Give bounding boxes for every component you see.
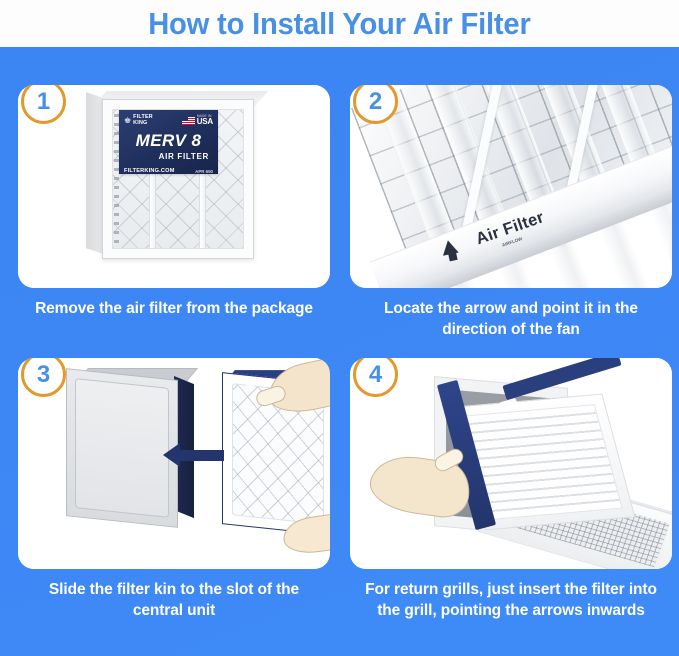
central-unit-panel — [75, 378, 169, 518]
step-4-card: 4 — [350, 358, 672, 569]
step-2: Air Filter AIRFLOW 2 Locate the arrow an… — [350, 85, 672, 340]
step-1-card: ♚ FILTER KING — [18, 85, 330, 288]
step-3: 3 Slide the filter kin to the slot of th… — [18, 358, 330, 621]
brand-name: FILTER KING — [133, 115, 153, 126]
usa-text: MADE IN USA — [197, 115, 213, 126]
step-4: 4 For return grills, just insert the fil… — [350, 358, 672, 621]
merv-rating: MERV 8 — [124, 131, 213, 151]
usa-text-big: USA — [197, 118, 213, 126]
step-2-card: Air Filter AIRFLOW 2 — [350, 85, 672, 288]
boxed-air-filter-photo: ♚ FILTER KING — [18, 85, 330, 288]
slide-filter-into-unit-illustration — [18, 358, 330, 569]
page-title: How to Install Your Air Filter — [148, 6, 530, 42]
filter-corner-arrow-closeup: Air Filter AIRFLOW — [350, 85, 672, 288]
step-3-caption: Slide the filter kin to the slot of the … — [18, 580, 330, 621]
central-unit-face — [66, 368, 178, 528]
label-bottom-row: FILTERKING.COM APR 650 — [124, 168, 213, 174]
product-label: ♚ FILTER KING — [119, 110, 218, 174]
header-bar: How to Install Your Air Filter — [0, 0, 679, 47]
label-top-row: ♚ FILTER KING — [124, 114, 213, 127]
step-2-caption: Locate the arrow and point it in the dir… — [350, 299, 672, 340]
label-subtitle: AIR FILTER — [124, 152, 213, 161]
brand-line-2: KING — [133, 120, 147, 126]
step-1-caption: Remove the air filter from the package — [18, 299, 330, 320]
usa-flag-icon — [182, 117, 195, 125]
filter-king-logo: ♚ FILTER KING — [124, 115, 153, 126]
direction-arrow-icon — [178, 450, 224, 461]
filter-front-face: ♚ FILTER KING — [102, 99, 254, 259]
steps-canvas: ♚ FILTER KING — [0, 47, 679, 656]
brand-website: FILTERKING.COM — [124, 168, 175, 174]
apr-rating: APR 650 — [195, 169, 213, 174]
step-4-caption: For return grills, just insert the filte… — [350, 580, 672, 621]
air-filter-product: ♚ FILTER KING — [86, 91, 264, 267]
filter-corner-body: Air Filter AIRFLOW — [350, 85, 672, 288]
airflow-arrow-tail — [448, 251, 458, 261]
step-3-card: 3 — [18, 358, 330, 569]
crown-icon: ♚ — [124, 117, 131, 125]
infographic-root: How to Install Your Air Filter — [0, 0, 679, 656]
insert-filter-return-grill-illustration — [350, 358, 672, 569]
step-1: ♚ FILTER KING — [18, 85, 330, 320]
made-in-usa-badge: MADE IN USA — [182, 115, 213, 126]
